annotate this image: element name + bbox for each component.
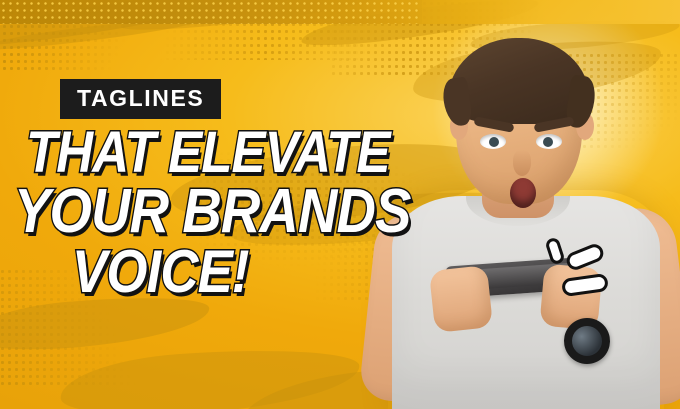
taglines-badge: TAGLINES bbox=[60, 79, 221, 119]
thumbnail-canvas: TAGLINES THAT ELEVATE YOUR BRANDS VOICE! bbox=[0, 0, 680, 409]
nose bbox=[513, 150, 531, 176]
headline-line-1: THAT ELEVATE bbox=[26, 126, 417, 179]
hair bbox=[448, 38, 590, 124]
pupil-left bbox=[489, 137, 499, 147]
mouth-open bbox=[510, 178, 536, 208]
pupil-right bbox=[543, 137, 553, 147]
headline-block: THAT ELEVATE YOUR BRANDS VOICE! bbox=[0, 126, 470, 300]
headline-line-3: VOICE! bbox=[72, 244, 422, 299]
headline-line-2: YOUR BRANDS bbox=[14, 183, 415, 240]
